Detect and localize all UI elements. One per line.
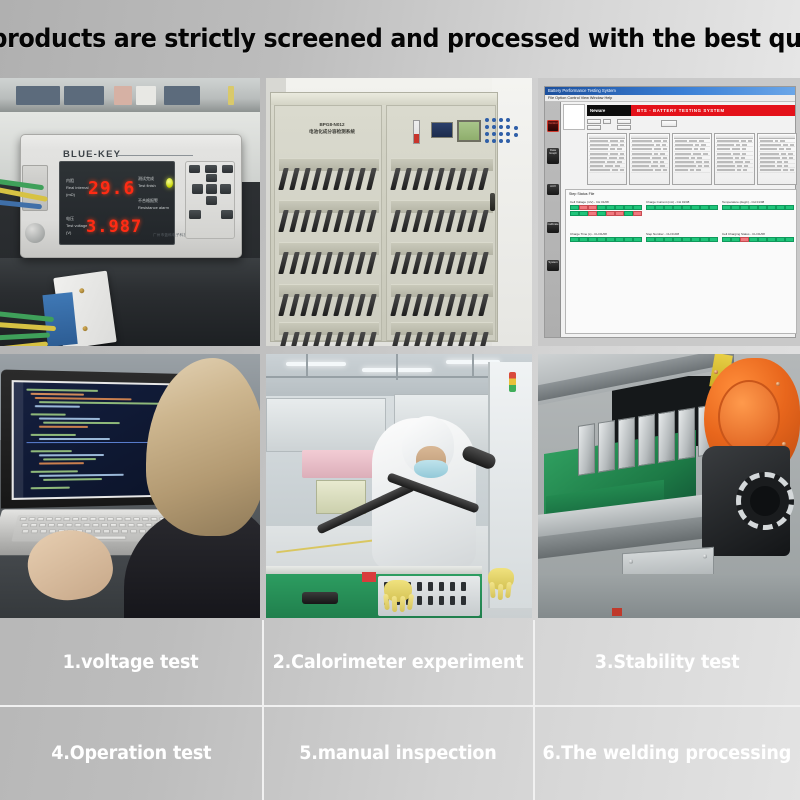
internal-resistance-label: 内阻 xyxy=(66,178,74,184)
clip-shelf xyxy=(279,158,379,202)
caption-grid: 1.voltage test 2.Calorimeter experiment … xyxy=(0,620,800,800)
caption-welding: 6.The welding processing xyxy=(534,707,800,800)
window-titlebar: Battery Performance Testing System xyxy=(545,87,795,95)
device-brand-label: BLUE-KEY xyxy=(63,149,121,160)
photo-welding-processing xyxy=(538,354,800,618)
status-group: Charge Time (s) - CH 01/08 xyxy=(570,232,642,243)
status-row xyxy=(646,237,718,242)
test-leads-lower xyxy=(0,308,68,346)
status-group-caption: Cell Charging Status - CH 01/08 xyxy=(722,232,794,236)
clip-shelf xyxy=(391,242,493,286)
status-row xyxy=(570,237,642,242)
test-leads-upper xyxy=(0,174,66,234)
controller-keypad[interactable] xyxy=(485,118,519,146)
background-workstations xyxy=(266,398,386,452)
caption-divider-horizontal xyxy=(0,705,800,707)
photo-operation-test xyxy=(0,354,260,618)
clip-shelf xyxy=(391,158,493,202)
voltage-readout: 3.987 xyxy=(86,217,142,237)
stability-test-scene: Battery Performance Testing System File … xyxy=(538,78,800,346)
parameter-table xyxy=(629,133,669,185)
formation-cabinet: BPG8-N012 电池化成分容检测系统 xyxy=(270,92,498,342)
resistance-readout: 29.6 xyxy=(88,178,135,199)
cabinet-model: BPG8-N012 xyxy=(297,122,367,129)
clip-shelf xyxy=(279,242,379,286)
channel-status-panel: Step Status File Cell Voltage (mV) - CH … xyxy=(565,189,797,334)
red-marker xyxy=(362,572,376,582)
status-group-caption: Step Number - CH 01/08 xyxy=(646,232,718,236)
test-finish-label-en: Test finish xyxy=(138,183,156,189)
status-group-caption: Cell Voltage (mV) - CH 01/08 xyxy=(570,200,642,204)
motor-face xyxy=(718,380,780,454)
banner-slogan: BTS - BATTERY TESTING SYSTEM xyxy=(631,105,795,116)
status-row xyxy=(722,237,794,242)
parameter-table xyxy=(587,133,627,185)
photo-voltage-test: BLUE-KEY 内阻 Real internal (mΩ) 29.6 电压 T… xyxy=(0,78,260,346)
status-row xyxy=(570,211,642,216)
caption-divider-vertical-2 xyxy=(533,620,535,800)
photo-manual-inspection xyxy=(266,354,532,618)
caption-label: 2.Calorimeter experiment xyxy=(273,652,524,673)
status-group-caption: Temperature (degC) - CH 01/08 xyxy=(722,200,794,204)
sidebar-item-calibrate[interactable]: Calibrate xyxy=(547,222,559,233)
parameter-table xyxy=(757,133,797,185)
caption-divider-vertical-1 xyxy=(262,620,264,800)
voltage-test-scene: BLUE-KEY 内阻 Real internal (mΩ) 29.6 电压 T… xyxy=(0,78,260,346)
caption-label: 1.voltage test xyxy=(63,652,199,673)
clip-shelf xyxy=(279,200,379,244)
panel-title: Step Status File xyxy=(569,192,594,196)
calorimeter-scene: BPG8-N012 电池化成分容检测系统 xyxy=(266,78,532,346)
test-software-window: Battery Performance Testing System File … xyxy=(544,86,796,338)
status-row xyxy=(722,205,794,210)
resistance-alarm-label-en: Resistance alarm xyxy=(138,205,169,211)
caption-operation-test: 4.Operation test xyxy=(0,707,262,800)
caption-label: 6.The welding processing xyxy=(543,743,792,764)
toolbar[interactable] xyxy=(587,118,795,131)
photo-stability-test: Battery Performance Testing System File … xyxy=(538,78,800,346)
voltage-unit: (V) xyxy=(66,230,71,236)
keypad xyxy=(185,161,235,239)
promo-collage: Our products are strictly screened and p… xyxy=(0,0,800,800)
status-group: Charge Current (mA) - CH 01/08 xyxy=(646,200,718,211)
pressure-gauge xyxy=(413,120,420,144)
cabinet-handle[interactable] xyxy=(490,193,495,211)
internal-resistance-label-en: Real internal xyxy=(66,185,88,191)
caption-label: 5.manual inspection xyxy=(299,743,496,764)
menu-bar[interactable]: File Option Control View Window Help xyxy=(545,95,795,102)
machine-base xyxy=(538,574,800,618)
status-row xyxy=(570,205,642,210)
sidebar-item-system[interactable]: System xyxy=(547,260,559,271)
sidebar-item-data-graph[interactable]: Data Graph xyxy=(547,148,559,164)
brand-banner: Neware BTS - BATTERY TESTING SYSTEM xyxy=(587,105,795,116)
status-group-caption: Charge Current (mA) - CH 01/08 xyxy=(646,200,718,204)
controller-screen[interactable] xyxy=(457,120,481,142)
sidebar: Control Data Graph AUX Calibrate System xyxy=(545,102,561,337)
status-group: Temperature (degC) - CH 01/08 xyxy=(722,200,794,211)
caption-label: 4.Operation test xyxy=(51,743,211,764)
clip-shelf xyxy=(391,200,493,244)
caption-manual-inspection: 5.manual inspection xyxy=(264,707,532,800)
editor-gutter xyxy=(14,382,23,498)
clip-shelf xyxy=(391,322,493,346)
caption-label: 3.Stability test xyxy=(595,652,740,673)
status-group: Step Number - CH 01/08 xyxy=(646,232,718,243)
cabinet-label-cn: 电池化成分容检测系统 xyxy=(297,129,367,136)
gauge-indicator xyxy=(414,134,419,143)
voltage-label-en: Test voltage xyxy=(66,223,87,229)
parameter-table xyxy=(672,133,712,185)
internal-resistance-unit: (mΩ) xyxy=(66,192,75,198)
page-title: Our products are strictly screened and p… xyxy=(0,24,800,54)
red-indicator xyxy=(612,608,622,616)
caption-calorimeter: 2.Calorimeter experiment xyxy=(264,620,532,705)
clip-shelf xyxy=(279,322,379,346)
caption-voltage-test: 1.voltage test xyxy=(0,620,262,705)
test-finish-label: 测试完成 xyxy=(138,176,154,182)
voltage-label: 电压 xyxy=(66,216,74,222)
cabinet-top xyxy=(271,93,497,105)
manual-inspection-scene xyxy=(266,354,532,618)
worker-mask xyxy=(414,460,448,478)
status-row xyxy=(646,205,718,210)
photo-calorimeter-experiment: BPG8-N012 电池化成分容检测系统 xyxy=(266,78,532,346)
task-lamp-base xyxy=(302,592,338,604)
header-banner: Our products are strictly screened and p… xyxy=(0,0,800,78)
status-group: Cell Charging Status - CH 01/08 xyxy=(722,232,794,243)
andon-tower-light xyxy=(509,372,516,392)
status-group-caption: Charge Time (s) - CH 01/08 xyxy=(570,232,642,236)
gear-hub xyxy=(750,486,780,516)
status-group: Cell Voltage (mV) - CH 01/08 xyxy=(570,200,642,217)
parameter-tables xyxy=(587,133,797,185)
operation-test-scene xyxy=(0,354,260,618)
parameter-table xyxy=(714,133,754,185)
welding-scene xyxy=(538,354,800,618)
shelf xyxy=(0,78,260,112)
sidebar-item-aux[interactable]: AUX xyxy=(547,184,559,195)
resistance-alarm-label: 不合格报警 xyxy=(138,198,158,204)
cabinet-door-right xyxy=(386,105,496,341)
photo-grid: BLUE-KEY 内阻 Real internal (mΩ) 29.6 电压 T… xyxy=(0,78,800,618)
pink-bench xyxy=(302,450,376,478)
brand-rule xyxy=(117,155,193,156)
cabinet-label: BPG8-N012 电池化成分容检测系统 xyxy=(297,122,367,136)
status-led xyxy=(166,178,173,188)
shelf-items xyxy=(14,84,244,106)
drive-gear xyxy=(736,472,794,530)
company-logo xyxy=(563,104,585,130)
caption-stability-test: 3.Stability test xyxy=(534,620,800,705)
banner-brand: Neware xyxy=(587,105,631,116)
sidebar-item-control[interactable]: Control xyxy=(547,120,559,132)
cabinet-door-left: BPG8-N012 电池化成分容检测系统 xyxy=(274,105,382,341)
controller-lcd xyxy=(431,122,453,138)
